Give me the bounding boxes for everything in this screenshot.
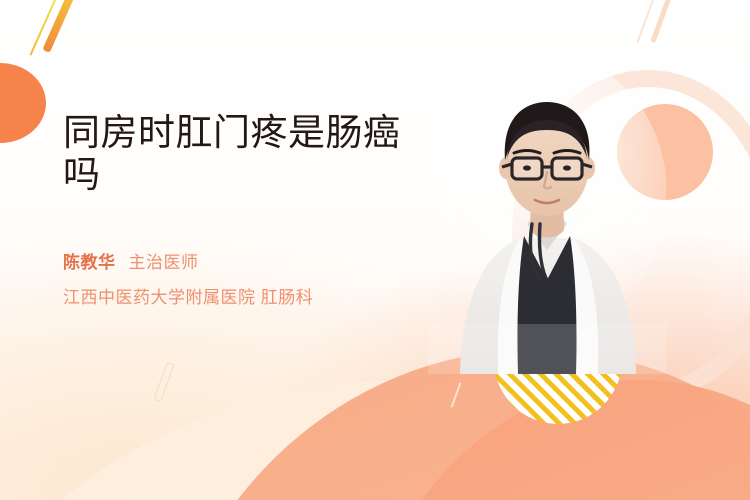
cover-text-block: 同房时肛门疼是肠癌吗 陈教华 主治医师 江西中医药大学附属医院 肛肠科 <box>63 112 423 308</box>
video-cover-card: 同房时肛门疼是肠癌吗 陈教华 主治医师 江西中医药大学附属医院 肛肠科 <box>0 0 750 500</box>
doctor-credit-line-1: 陈教华 主治医师 <box>63 248 423 273</box>
doctor-rank: 主治医师 <box>129 248 199 273</box>
doctor-affiliation: 江西中医药大学附属医院 肛肠科 <box>63 283 423 308</box>
doctor-portrait-photo <box>428 74 666 374</box>
doctor-name: 陈教华 <box>63 248 116 273</box>
page-title: 同房时肛门疼是肠癌吗 <box>63 112 423 196</box>
doctor-credit: 陈教华 主治医师 江西中医药大学附属医院 肛肠科 <box>63 248 423 308</box>
